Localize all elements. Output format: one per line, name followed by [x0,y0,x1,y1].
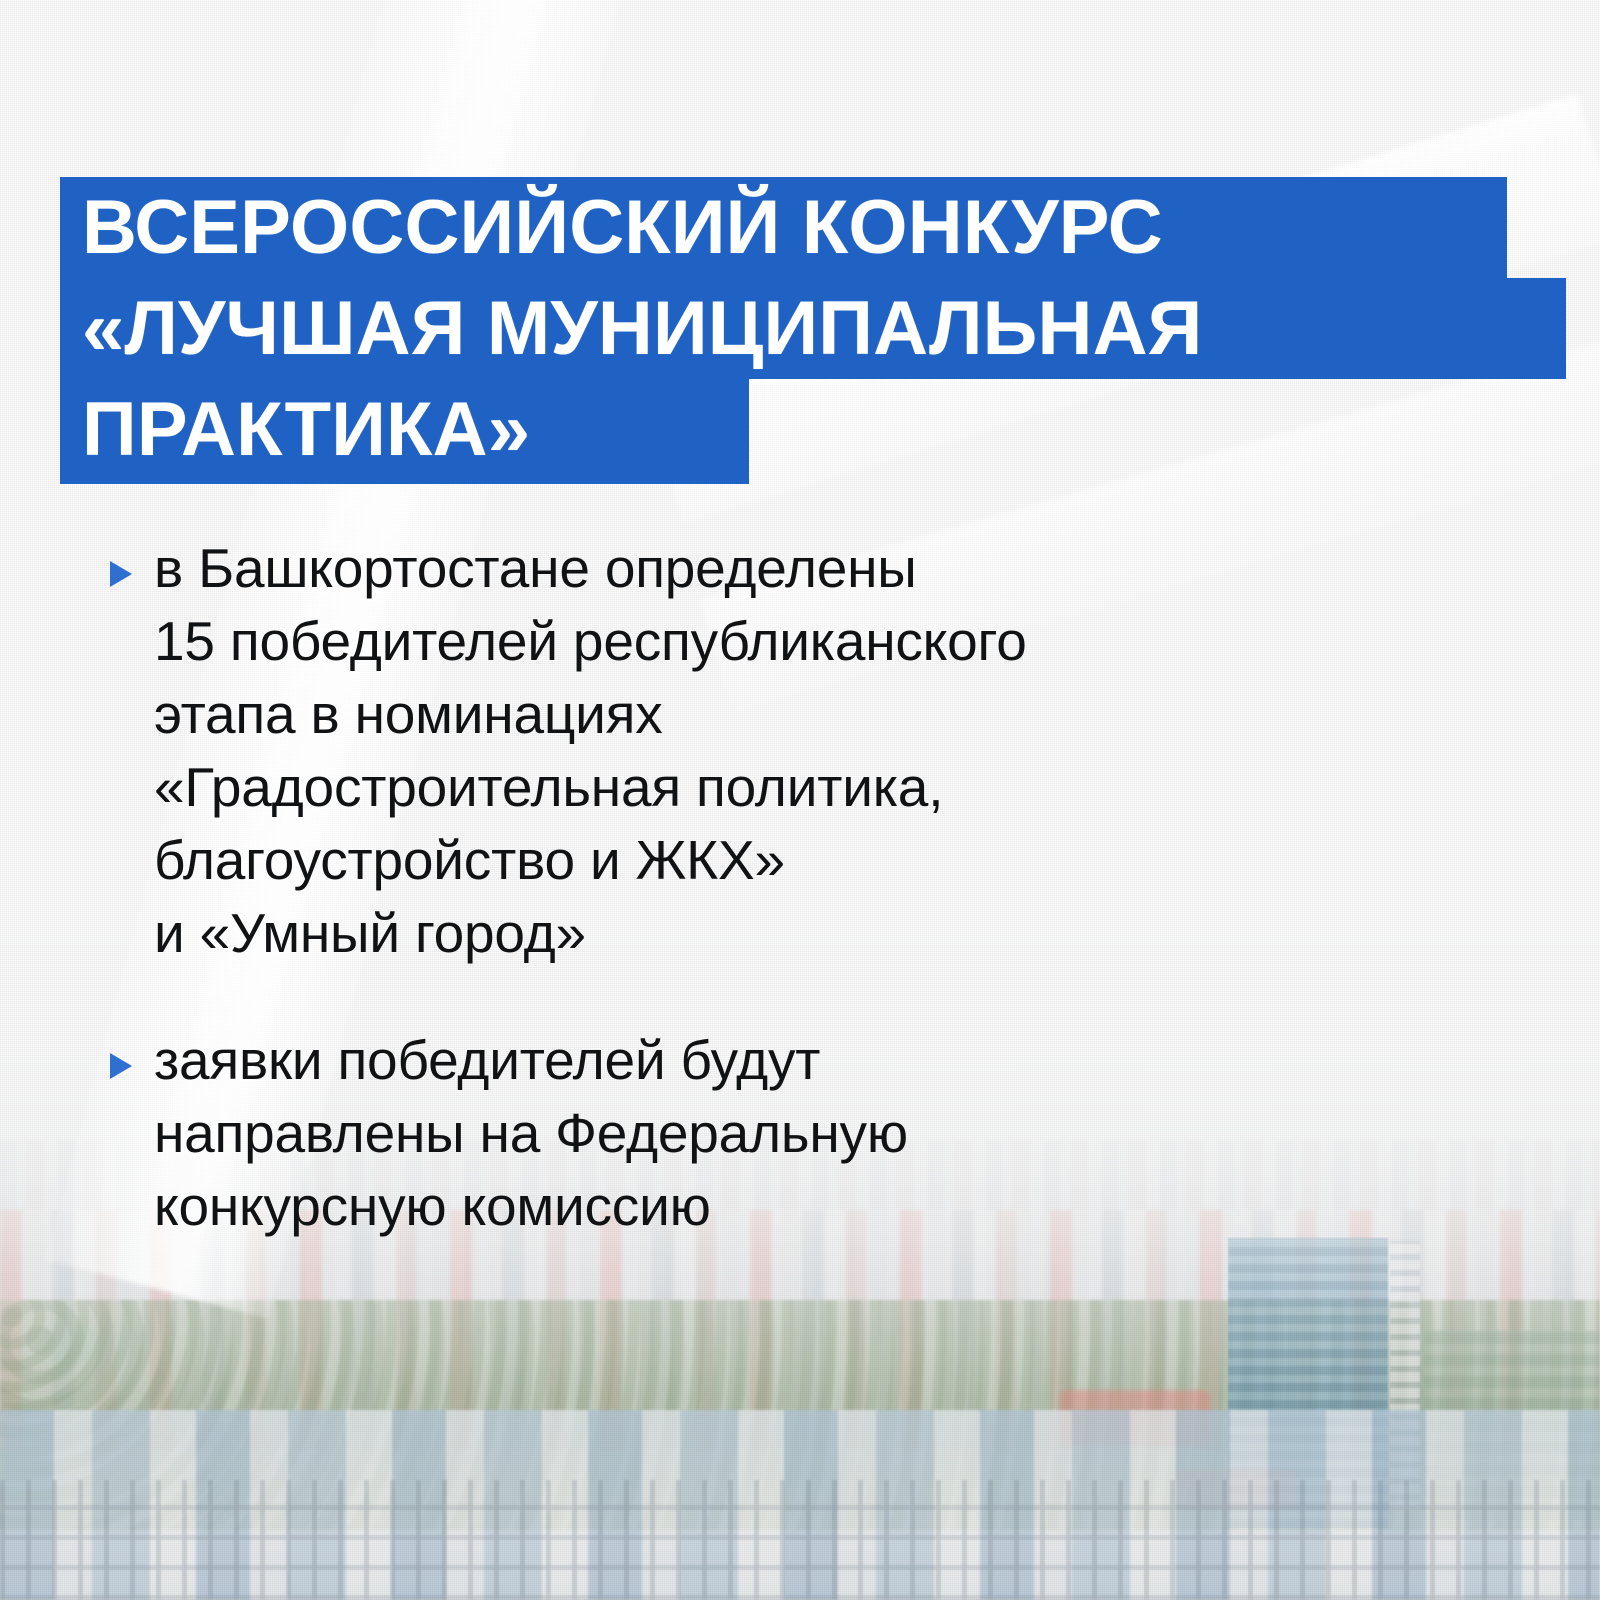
bullet-item-2-text: заявки победителей будут направлены на Ф… [154,1024,1410,1243]
poster-title: ВСЕРОССИЙСКИЙ КОНКУРС «ЛУЧШАЯ МУНИЦИПАЛЬ… [60,177,1483,484]
bullet-item-2: заявки победителей будут направлены на Ф… [110,1024,1410,1243]
triangle-right-icon [110,1053,132,1079]
bullet-list: в Башкортостане определены 15 победителе… [110,532,1410,1297]
bullet-item-1-text: в Башкортостане определены 15 победителе… [154,532,1410,970]
title-line-3: ПРАКТИКА» [60,379,749,484]
poster-canvas: ВСЕРОССИЙСКИЙ КОНКУРС «ЛУЧШАЯ МУНИЦИПАЛЬ… [0,0,1600,1600]
title-line-1: ВСЕРОССИЙСКИЙ КОНКУРС [60,177,1507,278]
bullet-item-1: в Башкортостане определены 15 победителе… [110,532,1410,970]
title-line-2: «ЛУЧШАЯ МУНИЦИПАЛЬНАЯ [60,278,1566,379]
triangle-right-icon [110,561,132,587]
